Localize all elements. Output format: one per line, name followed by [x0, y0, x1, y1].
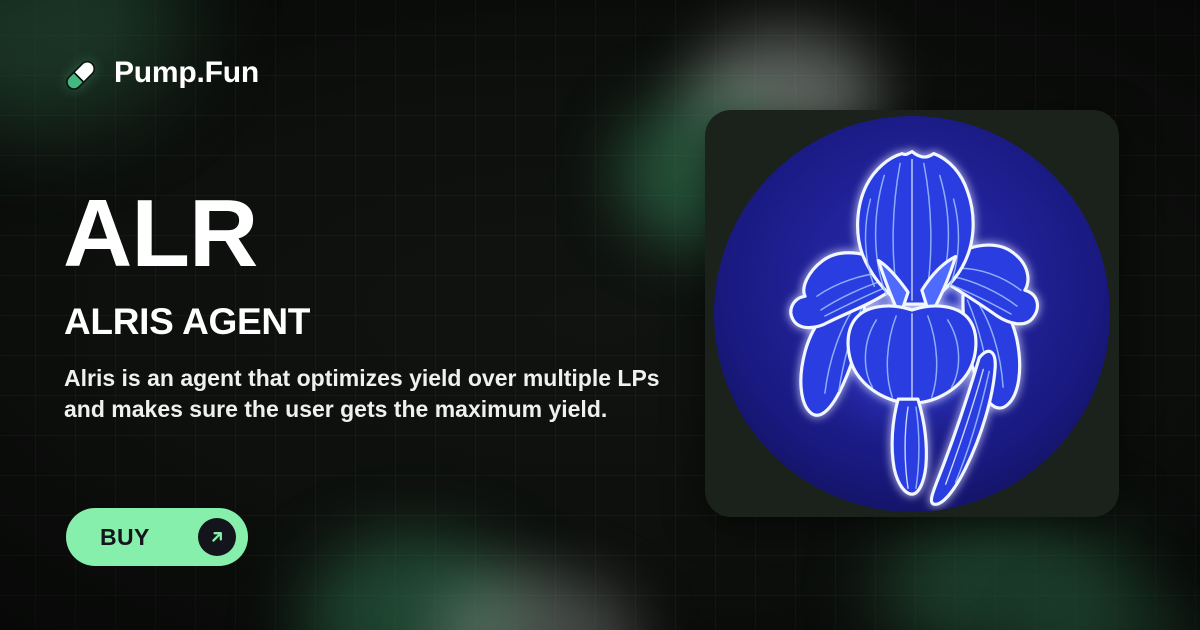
token-image-card	[705, 110, 1119, 517]
buy-button[interactable]: BUY	[66, 508, 248, 566]
iris-flower-illustration	[714, 116, 1110, 512]
arrow-up-right-icon	[198, 518, 236, 556]
arrow-up-right-glyph	[207, 527, 227, 547]
brand-logo[interactable]: Pump.Fun	[66, 56, 259, 90]
og-card: Pump.Fun ALR ALRIS AGENT Alris is an age…	[0, 0, 1200, 630]
token-image-disc	[714, 116, 1110, 512]
token-description: Alris is an agent that optimizes yield o…	[64, 363, 664, 425]
content-layer: Pump.Fun ALR ALRIS AGENT Alris is an age…	[0, 0, 1200, 630]
buy-button-label: BUY	[100, 524, 150, 551]
brand-name: Pump.Fun	[114, 56, 259, 90]
token-name: ALRIS AGENT	[64, 301, 310, 343]
pill-icon	[66, 56, 100, 90]
token-ticker: ALR	[63, 186, 257, 282]
